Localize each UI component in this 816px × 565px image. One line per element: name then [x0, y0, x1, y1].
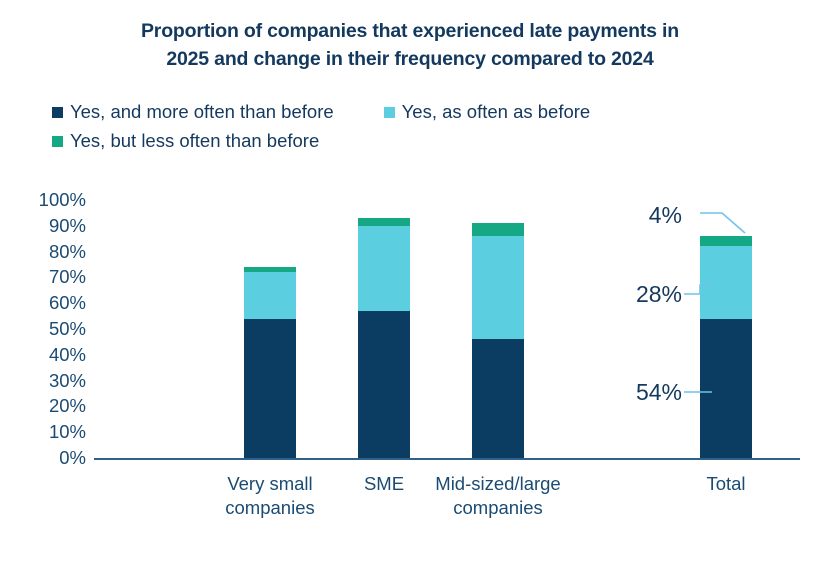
x-axis-label-sme: SME	[318, 472, 450, 496]
y-axis-tick-20: 20%	[12, 397, 86, 416]
y-axis-tick-30: 30%	[12, 372, 86, 391]
bar-total[interactable]	[700, 200, 752, 458]
y-axis-tick-90: 90%	[12, 217, 86, 236]
callout-as-often: 28%	[588, 283, 682, 306]
y-axis-tick-50: 50%	[12, 320, 86, 339]
chart-plot-area: 100%90%80%70%60%50%40%30%20%10%0% Very s…	[0, 0, 816, 565]
x-axis-label-total: Total	[652, 472, 800, 496]
bar-segment-yes-as-often-as-before[interactable]	[358, 226, 410, 311]
y-axis-tick-10: 10%	[12, 423, 86, 442]
bar-segment-yes-but-less-often-than-before[interactable]	[700, 236, 752, 246]
bar-segment-yes-as-often-as-before[interactable]	[244, 272, 296, 318]
bar-very-small-companies[interactable]	[244, 200, 296, 458]
bar-segment-yes-as-often-as-before[interactable]	[700, 246, 752, 318]
y-axis-tick-100: 100%	[12, 191, 86, 210]
bar-mid-sized-large-companies[interactable]	[472, 200, 524, 458]
bar-segment-yes-but-less-often-than-before[interactable]	[244, 267, 296, 272]
bar-segment-yes-and-more-often-than-before[interactable]	[700, 319, 752, 458]
bar-sme[interactable]	[358, 200, 410, 458]
y-axis-tick-0: 0%	[12, 449, 86, 468]
x-axis-label-mid-sized-large-companies: Mid-sized/large companies	[432, 472, 564, 520]
callout-more-often: 54%	[588, 381, 682, 404]
bar-segment-yes-but-less-often-than-before[interactable]	[472, 223, 524, 236]
y-axis-tick-70: 70%	[12, 268, 86, 287]
bar-segment-yes-and-more-often-than-before[interactable]	[244, 319, 296, 458]
y-axis-tick-80: 80%	[12, 243, 86, 262]
bar-segment-yes-and-more-often-than-before[interactable]	[472, 339, 524, 458]
bar-segment-yes-but-less-often-than-before[interactable]	[358, 218, 410, 226]
y-axis: 100%90%80%70%60%50%40%30%20%10%0%	[12, 0, 86, 565]
bar-segment-yes-as-often-as-before[interactable]	[472, 236, 524, 339]
bar-segment-yes-and-more-often-than-before[interactable]	[358, 311, 410, 458]
y-axis-tick-60: 60%	[12, 294, 86, 313]
y-axis-tick-40: 40%	[12, 346, 86, 365]
x-axis-line	[94, 458, 800, 460]
callout-less-often: 4%	[598, 204, 682, 227]
